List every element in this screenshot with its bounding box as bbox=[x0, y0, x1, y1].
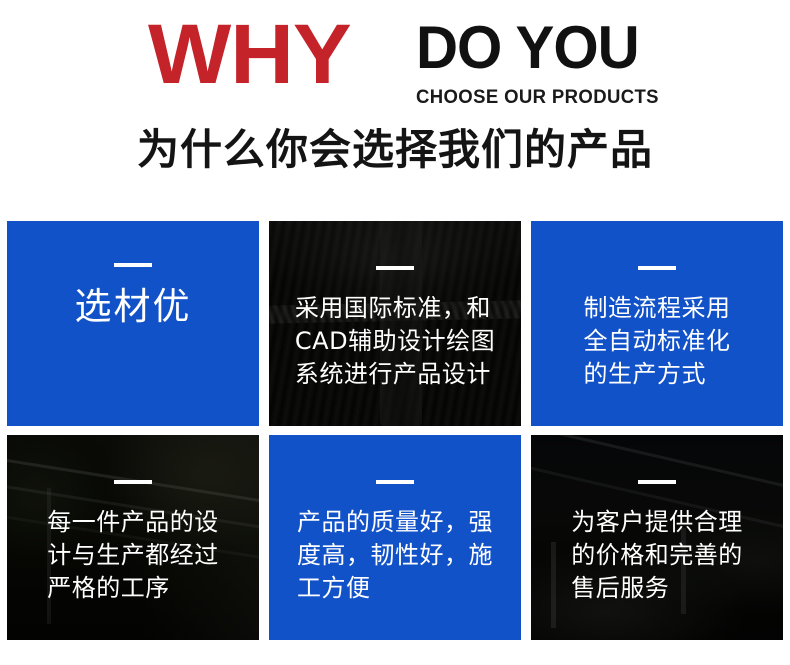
feature-card-3-text: 制造流程采用 全自动标准化 的生产方式 bbox=[584, 292, 731, 391]
feature-card-3: 制造流程采用 全自动标准化 的生产方式 bbox=[531, 221, 783, 426]
feature-card-1: 选材优 bbox=[7, 221, 259, 426]
feature-grid: 选材优 采用国际标准，和 CAD辅助设计绘图 系统进行产品设计 制造流程采用 全… bbox=[7, 221, 783, 640]
feature-card-6: 为客户提供合理 的价格和完善的 售后服务 bbox=[531, 435, 783, 640]
headline-inner: WHY DO YOU CHOOSE OUR PRODUCTS bbox=[148, 18, 668, 100]
divider-dash-icon bbox=[376, 480, 414, 484]
feature-card-2-text: 采用国际标准，和 CAD辅助设计绘图 系统进行产品设计 bbox=[295, 292, 495, 391]
headline-right-stack: DO YOU CHOOSE OUR PRODUCTS bbox=[416, 18, 676, 108]
feature-card-1-text: 选材优 bbox=[75, 285, 192, 329]
feature-card-5-text: 产品的质量好，强 度高，韧性好，施 工方便 bbox=[297, 506, 493, 605]
divider-dash-icon bbox=[638, 480, 676, 484]
feature-card-2: 采用国际标准，和 CAD辅助设计绘图 系统进行产品设计 bbox=[269, 221, 521, 426]
headline-why: WHY bbox=[148, 12, 351, 96]
headline-do-you: DO YOU bbox=[416, 18, 668, 78]
feature-card-5: 产品的质量好，强 度高，韧性好，施 工方便 bbox=[269, 435, 521, 640]
headline-row: WHY DO YOU CHOOSE OUR PRODUCTS bbox=[0, 18, 790, 100]
divider-dash-icon bbox=[114, 263, 152, 267]
divider-dash-icon bbox=[114, 480, 152, 484]
divider-dash-icon bbox=[376, 266, 414, 270]
feature-card-4-text: 每一件产品的设 计与生产都经过 严格的工序 bbox=[47, 506, 219, 605]
feature-card-6-text: 为客户提供合理 的价格和完善的 售后服务 bbox=[571, 506, 743, 605]
feature-card-4: 每一件产品的设 计与生产都经过 严格的工序 bbox=[7, 435, 259, 640]
headline-choose-our-products: CHOOSE OUR PRODUCTS bbox=[416, 86, 663, 108]
divider-dash-icon bbox=[638, 266, 676, 270]
page-header: WHY DO YOU CHOOSE OUR PRODUCTS 为什么你会选择我们… bbox=[0, 0, 790, 220]
headline-chinese-subtitle: 为什么你会选择我们的产品 bbox=[0, 124, 790, 176]
